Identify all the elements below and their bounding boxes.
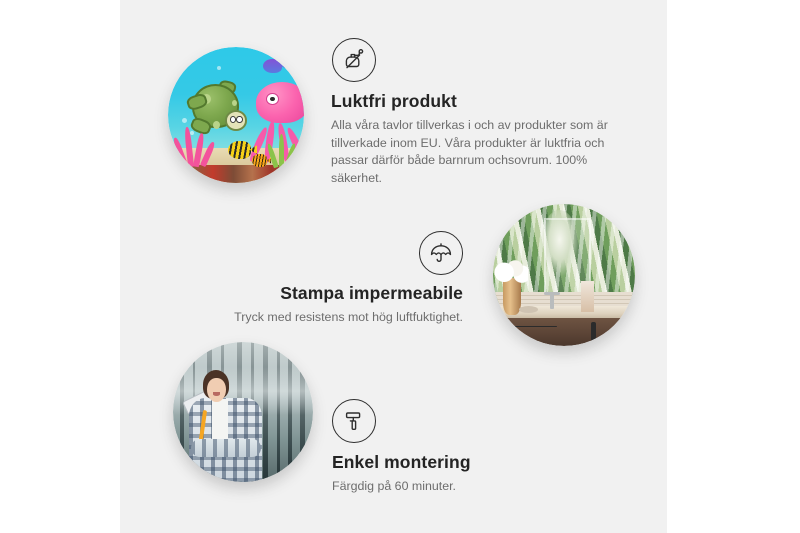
icon-row <box>205 231 463 275</box>
feature-waterproof: Stampa impermeabile Tryck med resistens … <box>205 231 463 327</box>
icon-row <box>332 399 612 443</box>
small-fish-illustration <box>252 154 267 166</box>
white-flowers <box>494 258 528 284</box>
icon-row <box>331 38 636 82</box>
feature-mounting: Enkel montering Färgdig på 60 minuter. <box>332 399 612 496</box>
blue-fish-illustration <box>263 59 282 73</box>
feature-description: Färgdig på 60 minuter. <box>332 478 612 496</box>
woman-figure <box>184 370 271 482</box>
feature-description: Alla våra tavlor tillverkas i och av pro… <box>331 117 636 187</box>
feature-odourless: Luktfri produkt Alla våra tavlor tillver… <box>331 38 636 187</box>
faucet <box>550 292 554 309</box>
no-fragrance-icon <box>332 38 376 82</box>
feature-title: Luktfri produkt <box>331 91 636 112</box>
toiletry-bottle <box>581 281 594 312</box>
promo-banner: Luktfri produkt Alla våra tavlor tillver… <box>0 0 800 533</box>
feature-description: Tryck med resistens mot hög luftfuktighe… <box>205 309 463 327</box>
paint-roller-icon <box>332 399 376 443</box>
bathroom-tropical-wallpaper-photo <box>493 204 635 346</box>
feature-title: Enkel montering <box>332 452 612 473</box>
green-coral-illustration <box>269 133 299 168</box>
umbrella-icon <box>419 231 463 275</box>
wooden-vanity-cabinet <box>504 318 635 346</box>
underwater-kids-mural-photo <box>168 47 304 183</box>
decorator-with-paint-roller-photo <box>173 342 313 482</box>
yellow-fish-illustration <box>228 141 251 159</box>
pink-coral-illustration <box>176 123 217 167</box>
feature-title: Stampa impermeabile <box>205 283 463 304</box>
